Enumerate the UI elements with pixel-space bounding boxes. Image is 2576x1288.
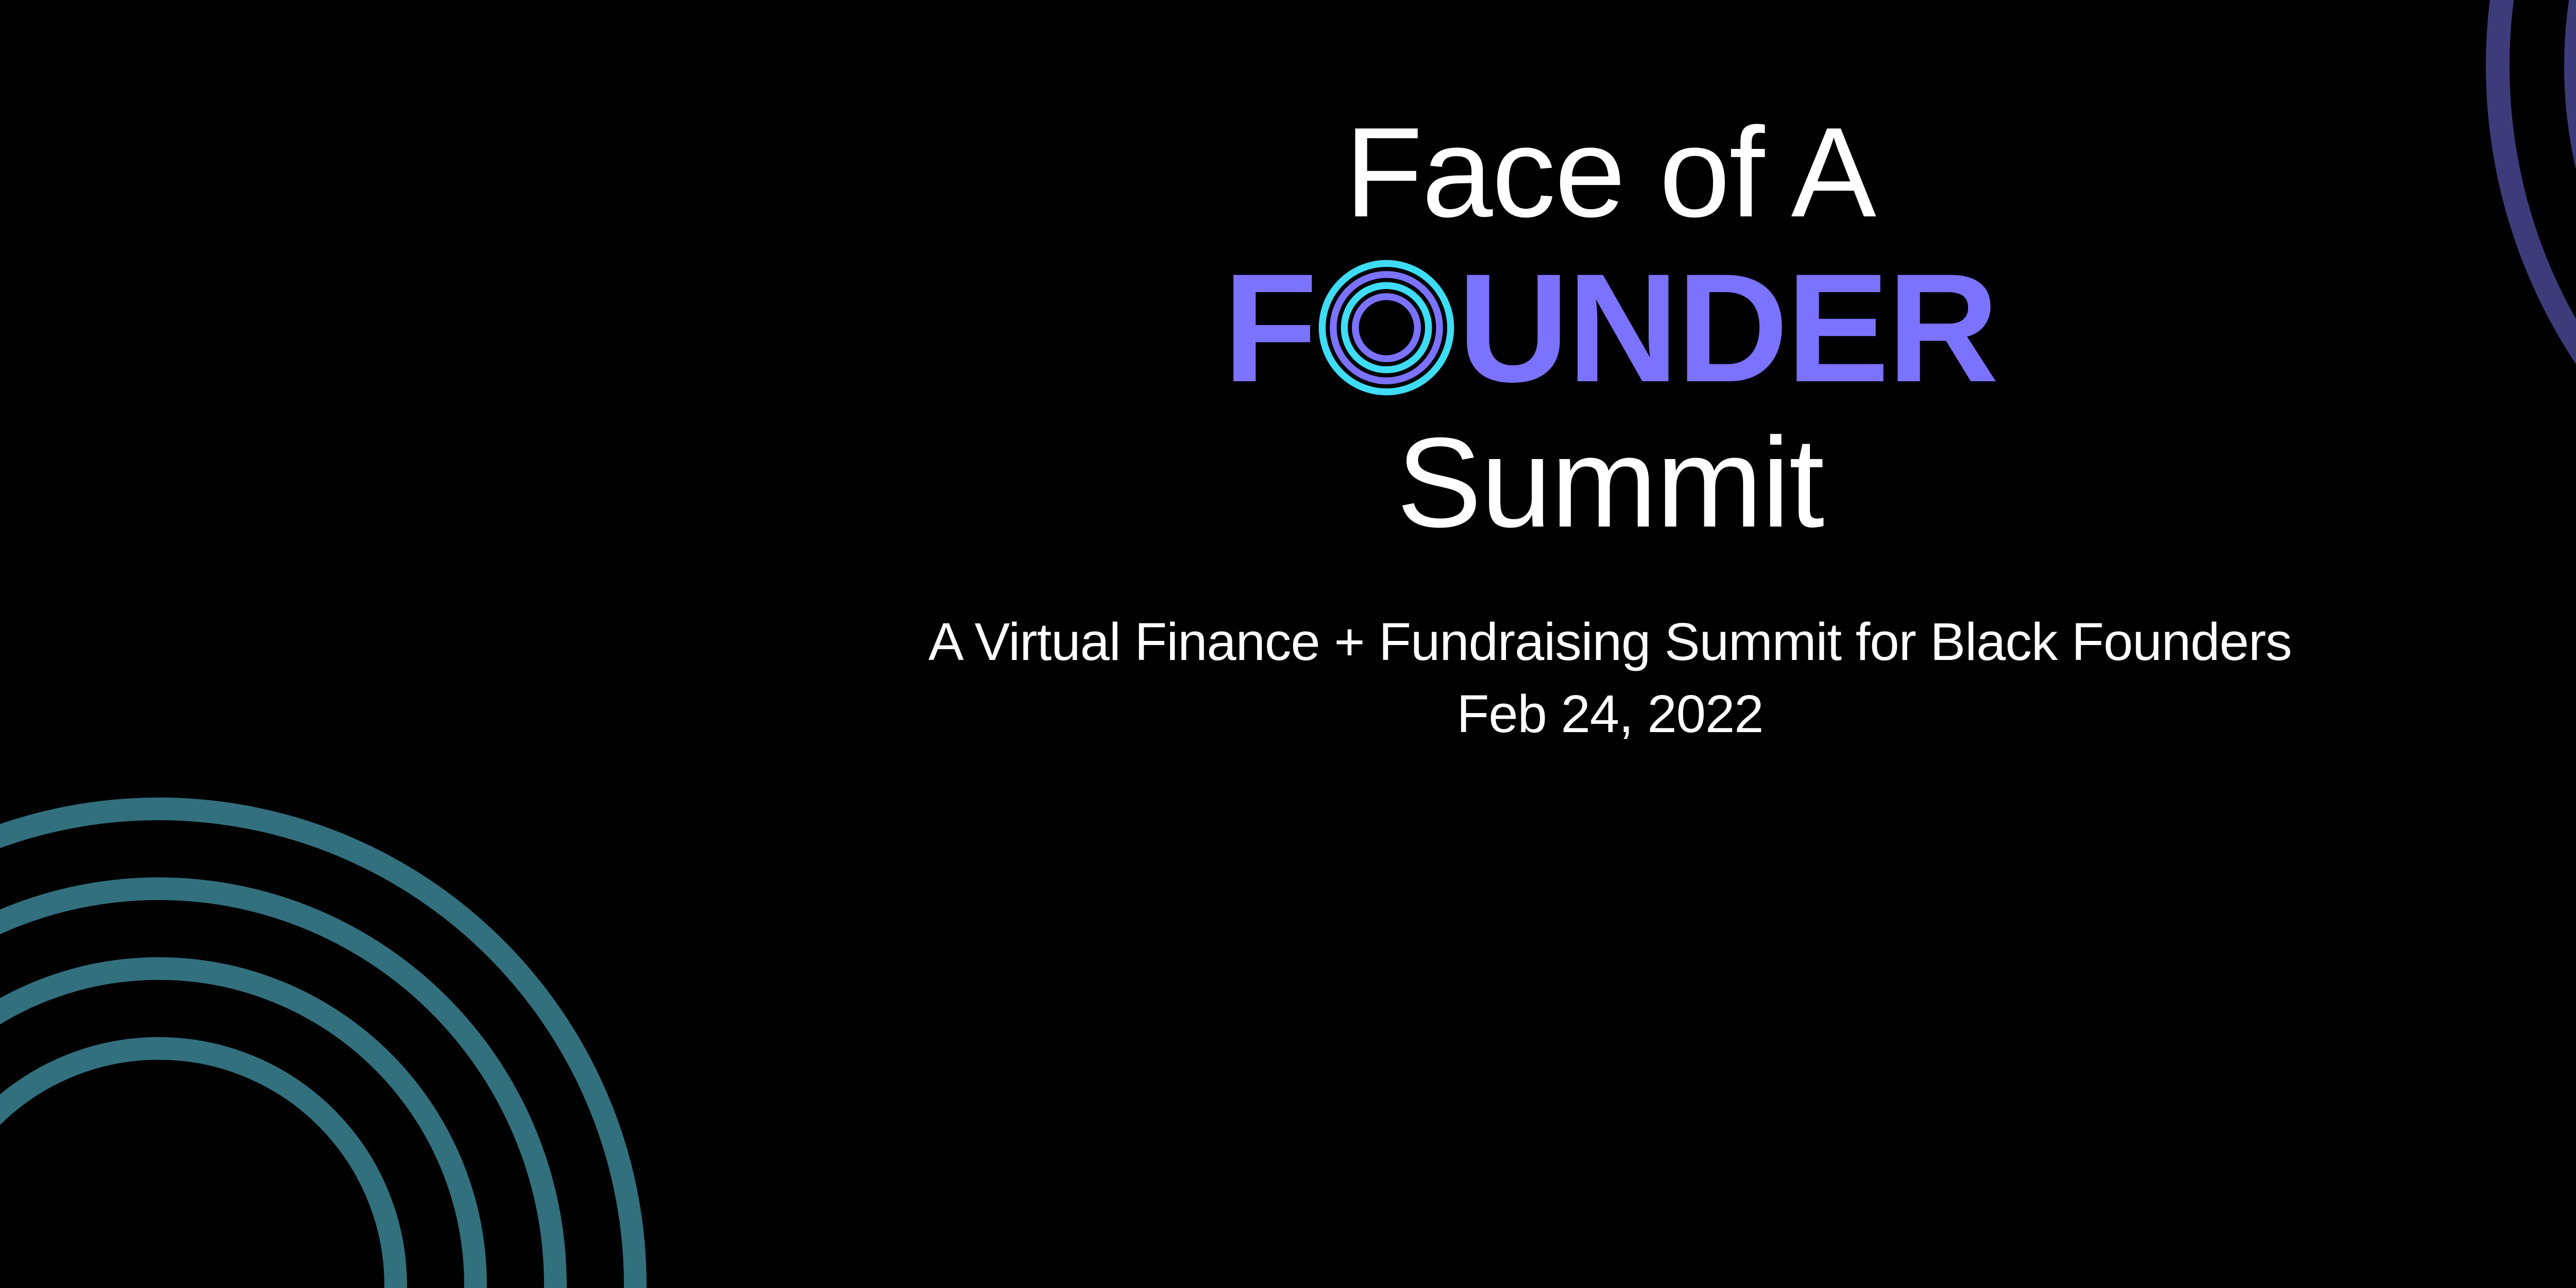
hero-content: Face of A F UNDER Summit A Virtual Finan… [0, 0, 2576, 1288]
event-date: Feb 24, 2022 [1456, 680, 1763, 748]
founder-wordmark-f: F [1223, 250, 1315, 405]
founder-wordmark: F UNDER [1223, 250, 1997, 405]
page-title-line-3: Summit [1397, 418, 1824, 546]
page-title-line-1: Face of A [1345, 108, 1875, 236]
event-banner: Face of A F UNDER Summit A Virtual Finan… [0, 0, 2576, 1288]
event-subtitle: A Virtual Finance + Fundraising Summit f… [928, 608, 2292, 676]
founder-o-rings-icon [1317, 259, 1455, 397]
founder-wordmark-under: UNDER [1458, 250, 1997, 405]
